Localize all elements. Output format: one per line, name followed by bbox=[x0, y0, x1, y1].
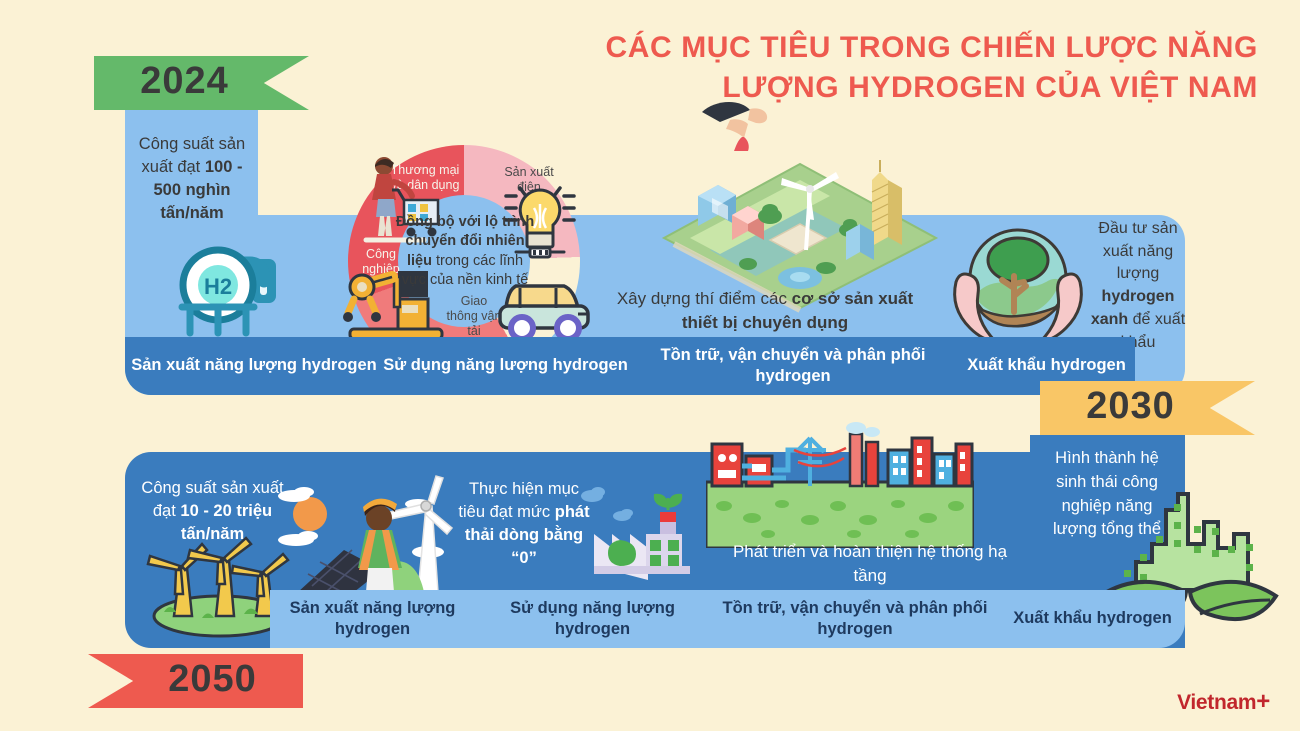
capacity-2030-text: Công suất sản xuất đạt 10 - 20 triệu tấn… bbox=[140, 477, 285, 546]
row-2030-label-bar: Sản xuất năng lượng hydrogen Sử dụng năn… bbox=[270, 590, 1185, 648]
label-2030-production: Sản xuất năng lượng hydrogen bbox=[270, 590, 475, 648]
infrastructure-2030-text: Phát triển và hoàn thiện hệ thống hạ tần… bbox=[720, 540, 1020, 588]
label-2024-storage: Tồn trữ, vận chuyển và phân phối hydroge… bbox=[628, 337, 958, 395]
storage-2024-plain: Xây dựng thí điểm các bbox=[617, 289, 792, 308]
usage-2030-text: Thực hiện mục tiêu đạt mức phát thải dòn… bbox=[455, 478, 593, 570]
row-2024-label-bar: Sản xuất năng lượng hydrogen Sử dụng năn… bbox=[125, 337, 1135, 395]
capacity-2030-bold: 10 - 20 triệu tấn/năm bbox=[180, 502, 272, 543]
export-2024-plain1: Đầu tư sản xuất năng lượng bbox=[1098, 220, 1177, 282]
year-ribbon-2050: 2050 bbox=[88, 654, 303, 708]
logo-plus: + bbox=[1256, 688, 1270, 715]
h2-tank-icon: H2 bbox=[168, 215, 298, 345]
vietnamplus-logo[interactable]: Vietnam+ bbox=[1177, 688, 1270, 716]
donut-center-text: Đồng bộ với lộ trình chuyển đổi nhiên li… bbox=[395, 213, 535, 291]
page-title-line2: LƯỢNG HYDROGEN CỦA VIỆT NAM bbox=[598, 68, 1258, 108]
storage-2024-text: Xây dựng thí điểm các cơ sở sản xuất thi… bbox=[600, 287, 930, 335]
logo-name: Vietnam bbox=[1177, 691, 1256, 714]
label-2024-usage: Sử dụng năng lượng hydrogen bbox=[383, 337, 628, 395]
infographic-canvas: CÁC MỤC TIÊU TRONG CHIẾN LƯỢC NĂNG LƯỢNG… bbox=[0, 0, 1300, 731]
city-island-icon bbox=[650, 128, 950, 313]
page-title-line1: CÁC MỤC TIÊU TRONG CHIẾN LƯỢC NĂNG bbox=[598, 28, 1258, 68]
page-title: CÁC MỤC TIÊU TRONG CHIẾN LƯỢC NĂNG LƯỢNG… bbox=[598, 28, 1258, 107]
export-2024-text: Đầu tư sản xuất năng lượng hydrogen xanh… bbox=[1090, 218, 1186, 354]
factory-leaf-icon bbox=[578, 482, 706, 594]
year-ribbon-2024: 2024 bbox=[94, 56, 309, 110]
solar-worker-icon bbox=[268, 474, 458, 598]
year-ribbon-2030: 2030 bbox=[1040, 381, 1255, 435]
label-2030-export: Xuất khẩu hydrogen bbox=[1000, 590, 1185, 648]
label-2030-storage: Tồn trữ, vận chuyển và phân phối hydroge… bbox=[710, 590, 1000, 648]
year-2030-label: 2030 bbox=[1040, 385, 1221, 431]
label-2030-usage: Sử dụng năng lượng hydrogen bbox=[475, 590, 710, 648]
svg-text:H2: H2 bbox=[204, 274, 232, 299]
power-grid-icon bbox=[706, 420, 974, 548]
ecosystem-2030-text: Hình thành hệ sinh thái công nghiệp năng… bbox=[1048, 447, 1166, 542]
year-2024-label: 2024 bbox=[94, 60, 275, 106]
capacity-2024-text: Công suất sản xuất đạt 100 - 500 nghìn t… bbox=[131, 133, 253, 225]
year-2050-label: 2050 bbox=[122, 658, 303, 704]
label-2024-production: Sản xuất năng lượng hydrogen bbox=[125, 337, 383, 395]
